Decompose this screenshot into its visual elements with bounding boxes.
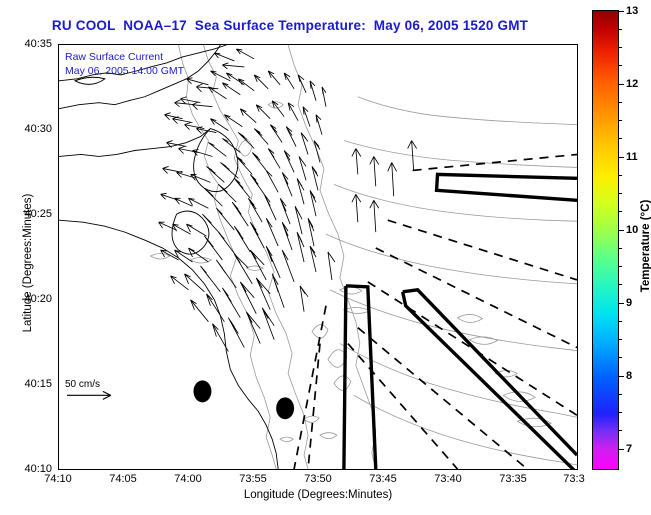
x-tick-3: 73:55: [239, 473, 267, 485]
colorbar-minor-tick: [619, 284, 622, 285]
station-marker-2: [276, 397, 294, 419]
colorbar-minor-tick: [619, 175, 622, 176]
colorbar-minor-tick: [619, 266, 622, 267]
colorbar-label-13: 13: [626, 5, 638, 17]
map-plot-area[interactable]: Raw Surface Current May 06, 2005 14:00 G…: [58, 44, 578, 470]
colorbar-title: Temperature (°C): [640, 166, 651, 326]
colorbar-tick-10: [619, 230, 624, 231]
x-axis-title: Longitude (Degrees:Minutes): [58, 489, 578, 501]
colorbar-label-9: 9: [626, 297, 632, 309]
radial-dashed-layer: [294, 154, 577, 469]
annotation-timestamp: May 06, 2005 14:00 GMT: [65, 65, 184, 77]
colorbar-minor-tick: [619, 412, 622, 413]
colorbar-minor-tick: [619, 248, 622, 249]
colorbar-tick-12: [619, 84, 624, 85]
y-tick-5: 40:10: [6, 463, 52, 475]
page-title: RU COOL NOAA–17 Sea Surface Temperature:…: [0, 18, 580, 33]
colorbar-minor-tick: [619, 211, 622, 212]
colorbar-minor-tick: [619, 29, 622, 30]
x-tick-2: 74:00: [174, 473, 202, 485]
colorbar-minor-tick: [619, 430, 622, 431]
x-tick-1: 74:05: [109, 473, 137, 485]
y-axis-title: Latitude (Degrees:Minutes): [22, 143, 34, 383]
colorbar-label-11: 11: [626, 151, 638, 163]
x-tick-7: 73:35: [499, 473, 527, 485]
y-tick-0: 40:35: [6, 38, 52, 50]
station-marker-layer: [193, 380, 294, 419]
current-vector-layer: [159, 49, 417, 352]
colorbar-minor-tick: [619, 120, 622, 121]
colorbar-minor-tick: [619, 47, 622, 48]
colorbar-tick-9: [619, 303, 624, 304]
transect-corridor-layer: [344, 174, 577, 469]
annotation-raw-surface-current: Raw Surface Current: [65, 51, 163, 63]
colorbar-tick-13: [619, 11, 624, 12]
colorbar-label-12: 12: [626, 78, 638, 90]
colorbar-label-8: 8: [626, 370, 632, 382]
y-tick-1: 40:30: [6, 123, 52, 135]
colorbar-minor-tick: [619, 357, 622, 358]
colorbar-tick-8: [619, 376, 624, 377]
x-tick-6: 73:40: [434, 473, 462, 485]
colorbar-minor-tick: [619, 65, 622, 66]
sst-contour-layer: [151, 45, 577, 469]
colorbar-label-10: 10: [626, 224, 638, 236]
colorbar-minor-tick: [619, 138, 622, 139]
colorbar: [592, 10, 619, 470]
colorbar-minor-tick: [619, 339, 622, 340]
colorbar-minor-tick: [619, 193, 622, 194]
scalebar-label: 50 cm/s: [65, 379, 100, 390]
x-tick-4: 73:50: [304, 473, 332, 485]
map-graphics: [59, 45, 577, 469]
colorbar-minor-tick: [619, 102, 622, 103]
colorbar-minor-tick: [619, 321, 622, 322]
colorbar-tick-7: [619, 449, 624, 450]
colorbar-tick-11: [619, 157, 624, 158]
x-tick-8: 73:3: [563, 473, 584, 485]
colorbar-label-7: 7: [626, 443, 632, 455]
station-marker-1: [193, 380, 211, 402]
scalebar-arrow-icon: [67, 391, 111, 399]
x-tick-5: 73:45: [369, 473, 397, 485]
colorbar-minor-tick: [619, 394, 622, 395]
